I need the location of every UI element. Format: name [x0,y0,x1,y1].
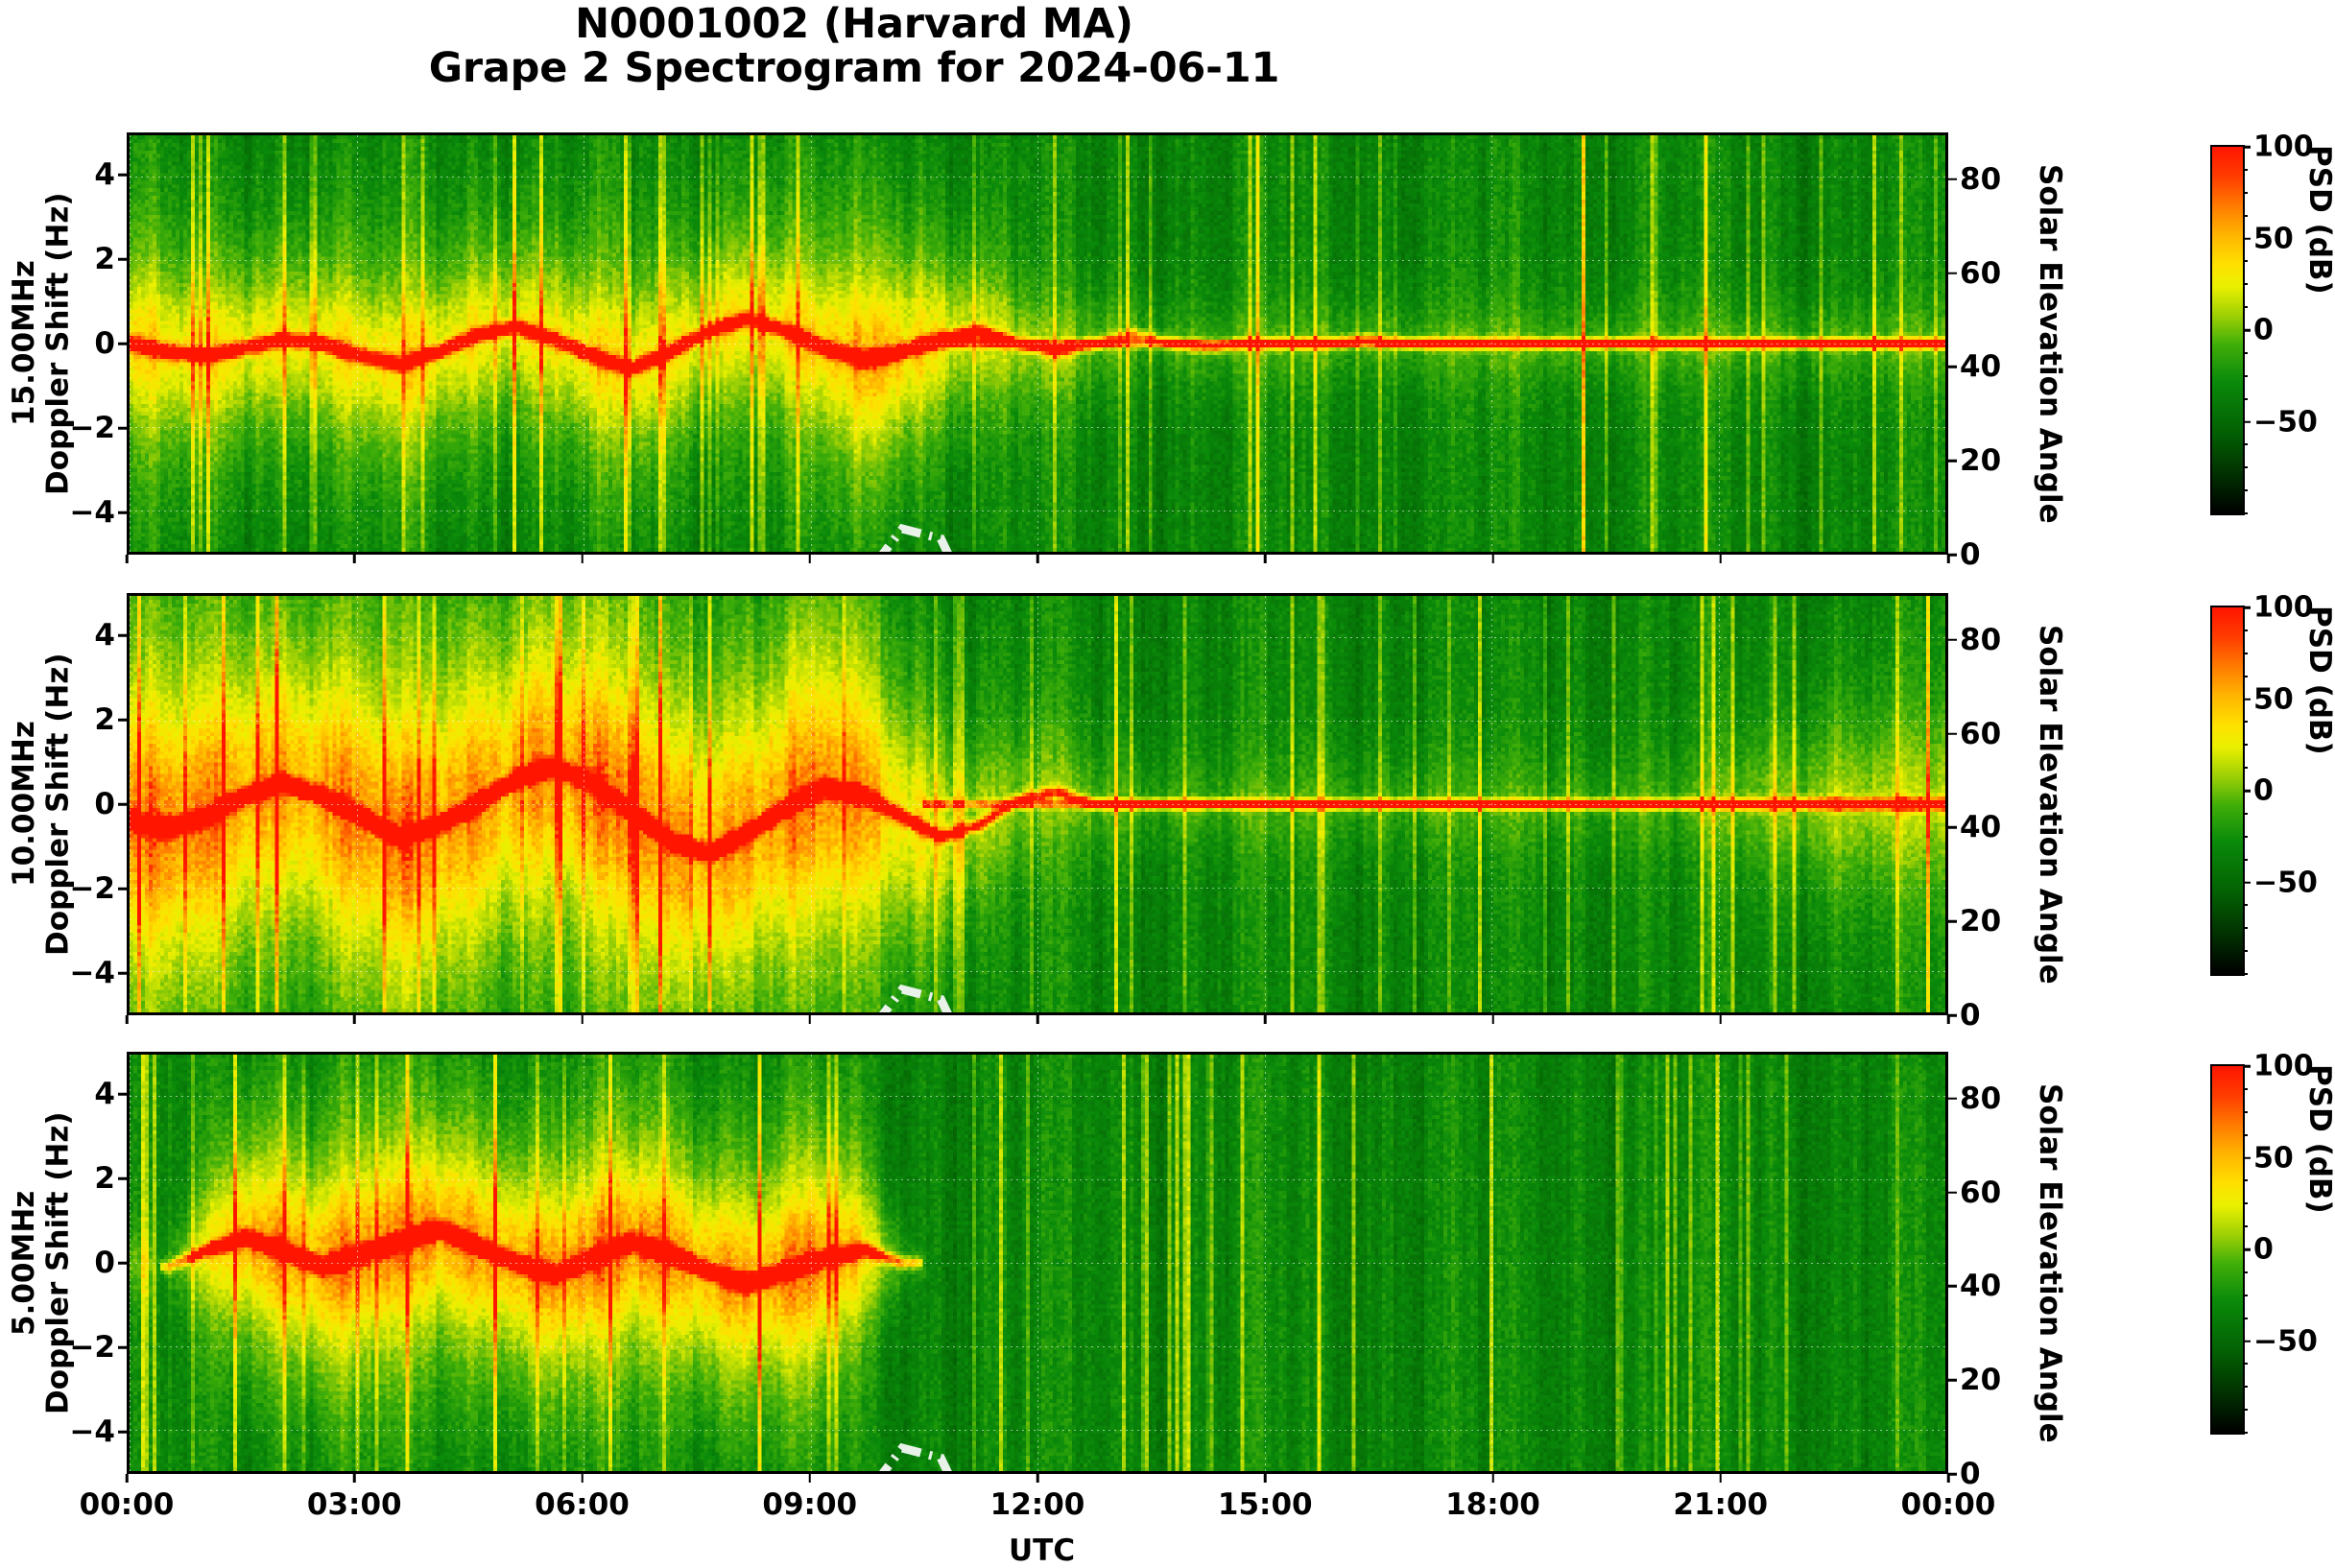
y-tick-mark-left [118,1093,127,1096]
y-tick-mark-left [118,634,127,637]
colorbar-minor-tick [2243,283,2248,285]
x-tick-mark [1491,1474,1494,1483]
colorbar-minor-tick [2243,744,2248,746]
y-tick-mark-right [1948,178,1957,181]
x-tick-mark [353,1015,356,1024]
colorbar-label: PSD (dB) [2302,606,2335,976]
y-tick-label-left: 4 [94,157,115,192]
x-tick-mark [1036,1474,1039,1483]
solar-elevation-curve [130,596,1945,1015]
x-tick-mark [809,1015,812,1024]
x-tick-mark [353,1474,356,1483]
y-tick-label-right: 0 [1960,1457,1981,1491]
colorbar-minor-tick [2243,306,2248,308]
colorbar-minor-tick [2243,443,2248,445]
colorbar-tick-mark [2243,1248,2251,1251]
colorbar-tick-mark [2243,1340,2251,1342]
y-tick-label-left: −2 [69,411,115,445]
x-tick-mark [1491,1015,1494,1024]
x-tick-label: 06:00 [535,1487,630,1522]
y-tick-mark-left [118,1262,127,1265]
x-tick-mark [581,1015,584,1024]
y-tick-mark-right [1948,1379,1957,1382]
colorbar-minor-tick [2243,260,2248,262]
colorbar: 100500−50 [2210,1064,2245,1435]
y-tick-mark-left [118,888,127,891]
colorbar-minor-tick [2243,489,2248,491]
x-tick-mark [1947,555,1950,563]
y-tick-mark-left [118,343,127,345]
colorbar-minor-tick [2243,466,2248,468]
colorbar-minor-tick [2243,192,2248,194]
x-tick-mark [1720,1015,1723,1024]
x-tick-mark [126,1015,129,1024]
y-tick-mark-right [1948,554,1957,557]
colorbar-minor-tick [2243,653,2248,654]
colorbar-tick-mark [2243,146,2251,149]
colorbar-minor-tick [2243,721,2248,723]
colorbar-minor-tick [2243,1179,2248,1181]
y-tick-label-right: 80 [1960,623,2001,657]
y-axis-label-left: 15.00MHz Doppler Shift (Hz) [8,132,76,555]
x-tick-mark [1264,1015,1267,1024]
colorbar-minor-tick [2243,1432,2248,1434]
colorbar-tick-mark [2243,790,2251,793]
colorbar-minor-tick [2243,859,2248,861]
colorbar-tick-mark [2243,420,2251,423]
colorbar-label: PSD (dB) [2302,1064,2335,1435]
colorbar-minor-tick [2243,950,2248,952]
colorbar-minor-tick [2243,1363,2248,1365]
y-tick-label-left: −2 [69,871,115,906]
x-tick-label: 09:00 [762,1487,857,1522]
x-tick-mark [126,1474,129,1483]
gridline-vertical [1945,596,1946,1012]
x-tick-label: 21:00 [1673,1487,1768,1522]
y-tick-mark-right [1948,1285,1957,1288]
y-tick-label-right: 40 [1960,810,2001,844]
spectrogram-image[interactable] [127,1052,1948,1474]
x-tick-mark [1036,555,1039,563]
colorbar-minor-tick [2243,1134,2248,1136]
colorbar-tick-label: 50 [2253,222,2294,255]
x-tick-mark [581,1474,584,1483]
y-tick-label-left: 2 [94,242,115,276]
colorbar-minor-tick [2243,1202,2248,1204]
x-tick-label: 03:00 [307,1487,402,1522]
y-tick-mark-right [1948,1473,1957,1476]
colorbar-minor-tick [2243,676,2248,677]
y-tick-mark-right [1948,1191,1957,1194]
x-tick-label: 18:00 [1445,1487,1540,1522]
y-tick-mark-right [1948,460,1957,463]
gridline-vertical [1945,135,1946,552]
y-tick-mark-right [1948,1098,1957,1101]
x-tick-label: 15:00 [1218,1487,1313,1522]
y-tick-mark-left [118,511,127,514]
x-tick-mark [809,1474,812,1483]
x-tick-mark [353,555,356,563]
colorbar: 100500−50 [2210,606,2245,976]
y-tick-label-left: −4 [69,1414,115,1449]
gridline-vertical [1945,1055,1946,1471]
y-tick-label-left: 4 [94,1077,115,1111]
y-tick-mark-left [118,972,127,975]
colorbar-minor-tick [2243,630,2248,631]
x-tick-mark [1947,1474,1950,1483]
colorbar-label: PSD (dB) [2302,145,2335,515]
y-tick-label-left: −4 [69,495,115,530]
spectrogram-image[interactable] [127,593,1948,1015]
colorbar-tick-mark [2243,1065,2251,1068]
y-tick-mark-right [1948,826,1957,829]
y-tick-label-left: 4 [94,618,115,653]
x-tick-mark [1036,1015,1039,1024]
y-tick-mark-right [1948,272,1957,274]
colorbar-tick-mark [2243,329,2251,332]
y-tick-label-right: 20 [1960,443,2001,478]
colorbar-minor-tick [2243,1111,2248,1113]
y-axis-label-left: 5.00MHz Doppler Shift (Hz) [8,1052,76,1474]
colorbar-minor-tick [2243,375,2248,377]
colorbar-minor-tick [2243,512,2248,514]
y-tick-label-right: 60 [1960,256,2001,291]
x-tick-label: 00:00 [80,1487,175,1522]
y-tick-label-right: 0 [1960,537,1981,572]
x-tick-mark [809,555,812,563]
y-tick-label-right: 0 [1960,998,1981,1033]
x-tick-mark [581,555,584,563]
x-tick-mark [1720,1474,1723,1483]
y-tick-mark-left [118,803,127,806]
x-tick-mark [1720,555,1723,563]
colorbar-minor-tick [2243,1386,2248,1388]
colorbar-tick-mark [2243,1156,2251,1159]
y-tick-mark-right [1948,366,1957,368]
colorbar-tick-label: 50 [2253,1141,2294,1175]
title-line-1: N0001002 (Harvard MA) [0,2,1708,46]
y-tick-mark-right [1948,639,1957,642]
y-tick-label-right: 20 [1960,1363,2001,1397]
colorbar-minor-tick [2243,904,2248,906]
solar-elevation-curve [130,135,1945,555]
x-tick-label: 12:00 [990,1487,1085,1522]
x-tick-mark [1264,555,1267,563]
y-tick-mark-left [118,1346,127,1349]
colorbar-minor-tick [2243,836,2248,838]
colorbar-tick-mark [2243,237,2251,240]
y-tick-label-right: 20 [1960,904,2001,938]
colorbar-minor-tick [2243,1318,2248,1319]
colorbar-tick-label: 0 [2253,774,2274,808]
spectrogram-image[interactable] [127,132,1948,555]
colorbar-tick-mark [2243,606,2251,609]
y-axis-label-left: 10.00MHz Doppler Shift (Hz) [8,593,76,1015]
colorbar-minor-tick [2243,973,2248,975]
panel-10mhz: 420−2−402040608010.00MHz Doppler Shift (… [127,593,1948,1015]
y-tick-mark-right [1948,1014,1957,1017]
y-tick-mark-left [118,174,127,177]
y-tick-mark-left [118,1431,127,1434]
y-tick-label-left: 2 [94,1161,115,1196]
y-tick-mark-right [1948,732,1957,735]
y-axis-label-right: Solar Elevation Angle [2033,1052,2067,1474]
colorbar-minor-tick [2243,215,2248,217]
x-axis-label: UTC [1009,1533,1075,1568]
page-title: N0001002 (Harvard MA) Grape 2 Spectrogra… [0,2,1708,90]
y-tick-label-right: 80 [1960,162,2001,197]
title-line-2: Grape 2 Spectrogram for 2024-06-11 [0,46,1708,90]
colorbar-minor-tick [2243,169,2248,171]
x-tick-mark [1264,1474,1267,1483]
colorbar-minor-tick [2243,927,2248,929]
colorbar-minor-tick [2243,1295,2248,1296]
colorbar-minor-tick [2243,398,2248,400]
colorbar-minor-tick [2243,1088,2248,1090]
colorbar-tick-label: 50 [2253,682,2294,716]
solar-elevation-curve [130,1055,1945,1474]
y-tick-label-right: 40 [1960,1269,2001,1303]
y-axis-label-right: Solar Elevation Angle [2033,132,2067,555]
colorbar: 100500−50 [2210,145,2245,515]
colorbar-minor-tick [2243,767,2248,769]
x-tick-mark [1491,555,1494,563]
panel-5mhz: 420−2−40204060805.00MHz Doppler Shift (H… [127,1052,1948,1474]
y-tick-label-left: 0 [94,787,115,821]
y-tick-label-right: 40 [1960,349,2001,384]
y-tick-mark-left [118,1177,127,1180]
y-tick-label-left: −4 [69,956,115,990]
colorbar-minor-tick [2243,1271,2248,1273]
colorbar-tick-label: 0 [2253,1233,2274,1267]
colorbar-minor-tick [2243,813,2248,815]
colorbar-minor-tick [2243,1409,2248,1411]
panel-15mhz: 420−2−402040608015.00MHz Doppler Shift (… [127,132,1948,555]
x-tick-label: 00:00 [1901,1487,1996,1522]
y-tick-label-left: 0 [94,326,115,361]
x-tick-mark [126,555,129,563]
colorbar-tick-label: 0 [2253,314,2274,347]
y-tick-label-left: 2 [94,702,115,737]
colorbar-tick-mark [2243,698,2251,701]
y-axis-label-right: Solar Elevation Angle [2033,593,2067,1015]
y-tick-label-left: 0 [94,1246,115,1280]
y-tick-label-right: 60 [1960,1176,2001,1210]
y-tick-mark-right [1948,920,1957,923]
y-tick-label-left: −2 [69,1330,115,1365]
y-tick-mark-left [118,719,127,722]
y-tick-label-right: 80 [1960,1081,2001,1116]
colorbar-tick-mark [2243,881,2251,884]
colorbar-minor-tick [2243,352,2248,354]
x-tick-mark [1947,1015,1950,1024]
y-tick-mark-left [118,258,127,261]
y-tick-mark-left [118,427,127,430]
y-tick-label-right: 60 [1960,717,2001,751]
colorbar-minor-tick [2243,1225,2248,1227]
